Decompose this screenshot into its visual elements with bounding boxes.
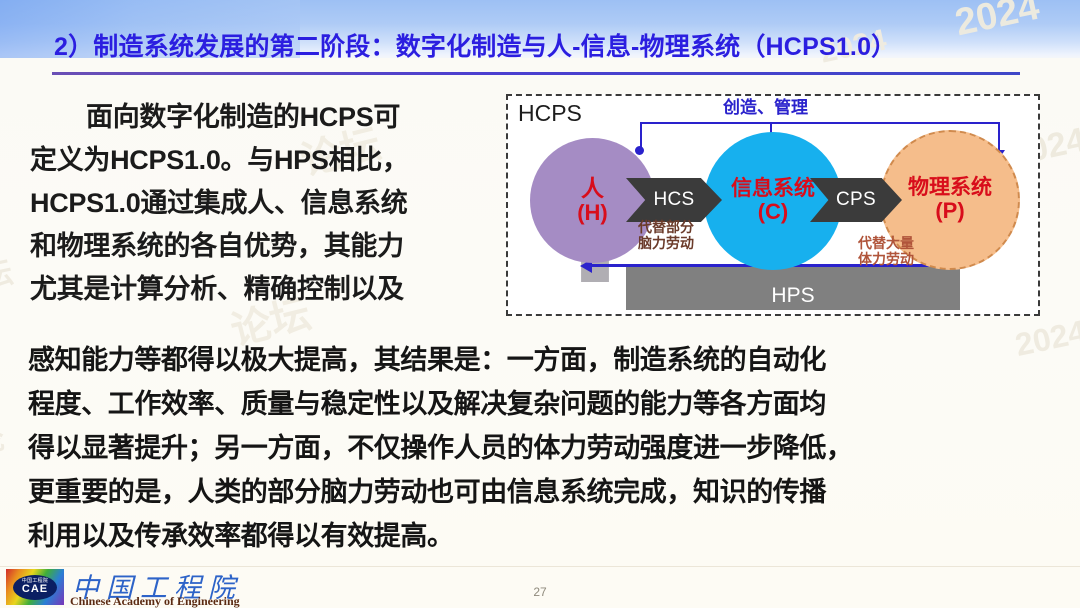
node-cyber: 信息系统 (C) [704,132,842,270]
hcps-diagram: HCPS 创造、管理 HPS 人 (H) 信息系统 (C) 物理系统 (P) [506,94,1040,316]
page-number: 27 [0,585,1080,599]
paragraph-line: 尤其是计算分析、精确控制以及 [30,268,500,311]
annotation-brain-labor: 代替部分 脑力劳动 [638,220,694,251]
slide-root: 2024 2024 2024 坛 论 论坛 论坛 2024 2）制造系统发展的第… [0,0,1080,608]
paragraph-line: 定义为HCPS1.0。与HPS相比， [30,139,500,182]
flow-label-create-manage: 创造、管理 [723,98,808,117]
paragraph-line: 利用以及传承效率都得以有效提高。 [28,514,1058,558]
body-paragraph-left: 面向数字化制造的HCPS可 定义为HCPS1.0。与HPS相比， HCPS1.0… [30,96,500,311]
hps-bar: HPS [626,266,960,310]
node-human: 人 (H) [530,138,655,263]
annotation-physical-labor-line1: 代替大量 [858,236,914,252]
body-paragraph-full: 感知能力等都得以极大提高，其结果是：一方面，制造系统的自动化 程度、工作效率、质… [28,338,1058,558]
paragraph-line: 感知能力等都得以极大提高，其结果是：一方面，制造系统的自动化 [28,338,1058,382]
annotation-brain-labor-line1: 代替部分 [638,220,694,236]
paragraph-line: HCPS1.0通过集成人、信息系统 [30,182,500,225]
node-physical-abbr: (P) [935,199,964,223]
flow-origin-dot [635,146,644,155]
annotation-physical-labor-line2: 体力劳动 [858,252,914,268]
connector-hcs-label: HCS [653,189,694,211]
annotation-brain-labor-line2: 脑力劳动 [638,236,694,252]
node-human-abbr: (H) [577,201,608,225]
annotation-physical-labor: 代替大量 体力劳动 [858,236,914,267]
node-human-name: 人 [581,176,604,201]
node-physical-name: 物理系统 [908,177,992,200]
flow-line-horizontal [640,122,1000,124]
paragraph-line: 更重要的是，人类的部分脑力劳动也可由信息系统完成，知识的传播 [28,470,1058,514]
paragraph-line: 面向数字化制造的HCPS可 [30,96,500,139]
paragraph-line: 程度、工作效率、质量与稳定性以及解决复杂问题的能力等各方面均 [28,382,1058,426]
diagram-boundary-label: HCPS [518,100,582,127]
page-title: 2）制造系统发展的第二阶段：数字化制造与人-信息-物理系统（HCPS1.0） [54,27,896,63]
paragraph-line: 和物理系统的各自优势，其能力 [30,225,500,268]
title-divider [52,72,1020,75]
node-cyber-abbr: (C) [758,200,789,224]
connector-cps-label: CPS [836,189,876,211]
flow-line-branch-right [998,122,1000,152]
node-cyber-name: 信息系统 [731,178,815,201]
paragraph-line: 得以显著提升；另一方面，不仅操作人员的体力劳动强度进一步降低， [28,426,1058,470]
hps-bar-label: HPS [771,284,814,310]
